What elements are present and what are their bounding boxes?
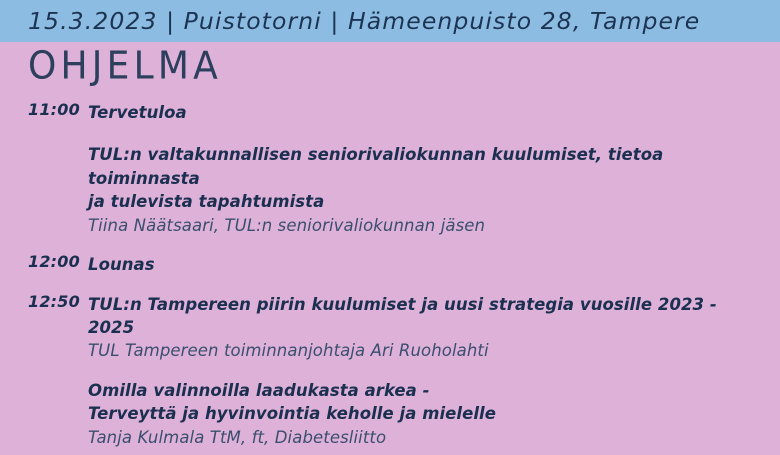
- row-time: 11:00: [28, 101, 88, 120]
- row-speaker: TUL Tampereen toiminnanjohtaja Ari Ruoho…: [88, 339, 760, 362]
- row-body: TUL:n Tampereen piirin kuulumiset ja uus…: [88, 293, 780, 363]
- row-title: Tervetuloa: [88, 101, 760, 124]
- row-title: Omilla valinnoilla laadukasta arkea - Te…: [88, 379, 760, 426]
- schedule-row: 11:00 Tervetuloa: [0, 101, 780, 124]
- row-title: TUL:n Tampereen piirin kuulumiset ja uus…: [88, 293, 760, 340]
- row-title: Lounas: [88, 253, 760, 276]
- row-spacer: [0, 363, 780, 379]
- row-time: 12:00: [28, 253, 88, 272]
- row-speaker: Tiina Näätsaari, TUL:n seniorivaliokunna…: [88, 214, 760, 237]
- schedule-row: 12:50 TUL:n Tampereen piirin kuulumiset …: [0, 293, 780, 363]
- row-body: Tervetuloa: [88, 101, 780, 124]
- row-spacer: [0, 124, 780, 143]
- venue-header-bar: 15.3.2023 | Puistotorni | Hämeenpuisto 2…: [0, 0, 780, 42]
- row-time: 12:50: [28, 293, 88, 312]
- page-title: OHJELMA: [28, 48, 222, 86]
- row-title: TUL:n valtakunnallisen seniorivaliokunna…: [88, 143, 760, 213]
- row-spacer: [0, 237, 780, 253]
- row-body: TUL:n valtakunnallisen seniorivaliokunna…: [88, 143, 780, 237]
- venue-info-line: 15.3.2023 | Puistotorni | Hämeenpuisto 2…: [28, 7, 700, 35]
- schedule-row: Omilla valinnoilla laadukasta arkea - Te…: [0, 379, 780, 449]
- row-body: Omilla valinnoilla laadukasta arkea - Te…: [88, 379, 780, 449]
- schedule-row: TUL:n valtakunnallisen seniorivaliokunna…: [0, 143, 780, 237]
- schedule-row: 12:00 Lounas: [0, 253, 780, 276]
- row-body: Lounas: [88, 253, 780, 276]
- row-speaker: Tanja Kulmala TtM, ft, Diabetesliitto: [88, 426, 760, 449]
- row-spacer: [0, 449, 780, 455]
- row-spacer: [0, 277, 780, 293]
- program-poster: 15.3.2023 | Puistotorni | Hämeenpuisto 2…: [0, 0, 780, 455]
- schedule-list: 11:00 Tervetuloa TUL:n valtakunnallisen …: [0, 101, 780, 455]
